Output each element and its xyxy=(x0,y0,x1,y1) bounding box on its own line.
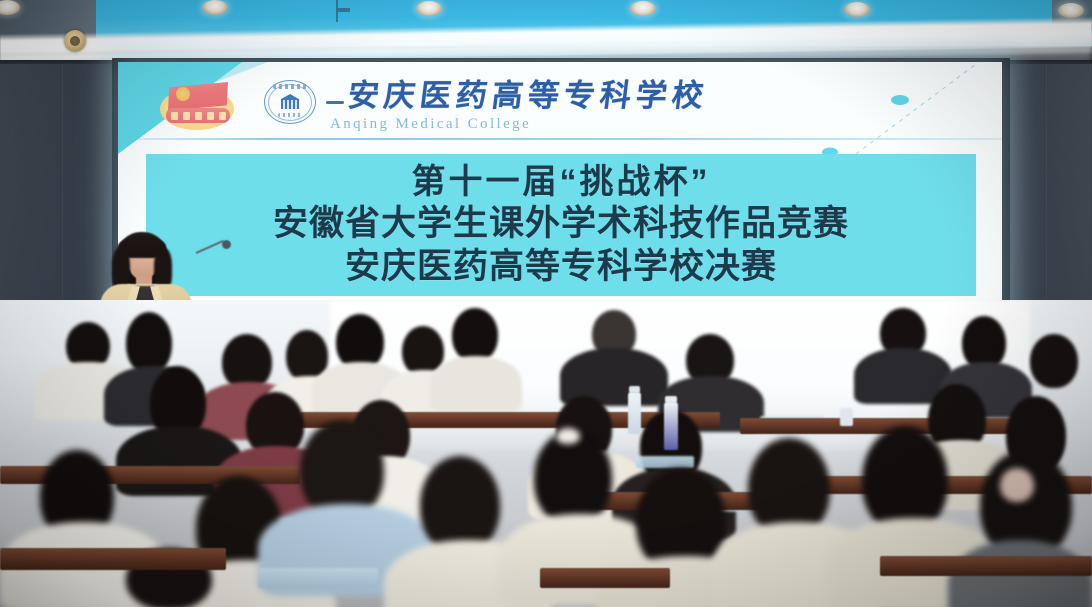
slide-header: 安庆医药高等专科学校 Anqing Medical College xyxy=(118,68,1002,134)
slide-title-line-1: 第十一届“挑战杯” xyxy=(412,162,711,202)
ceiling-hanger-rod xyxy=(338,8,350,12)
water-bottle-cap xyxy=(629,386,640,393)
slide-divider-rule xyxy=(118,138,1002,140)
hair-accessory xyxy=(556,428,580,444)
slide-title-stack: 第十一届“挑战杯” 安徽省大学生课外学术科技作品竞赛 安庆医药高等专科学校决赛 xyxy=(146,154,976,296)
recessed-spotlight xyxy=(844,2,870,17)
seated-audience xyxy=(0,300,1092,607)
slide-title-line-2: 安徽省大学生课外学术科技作品竞赛 xyxy=(273,203,849,245)
college-crest-emblem-center xyxy=(70,36,80,46)
water-bottle xyxy=(664,402,678,450)
audience-shoulders xyxy=(430,356,522,412)
water-bottle xyxy=(840,408,853,426)
recessed-spotlight xyxy=(202,0,228,15)
slide-title-line-3: 安庆医药高等专科学校决赛 xyxy=(345,246,777,288)
institution-name-cn: 安庆医药高等专科学校 xyxy=(346,76,711,116)
conference-hall-screenshot: 安庆医药高等专科学校 Anqing Medical College 第十一届“挑… xyxy=(0,0,1092,607)
plush-accessory xyxy=(1000,468,1034,502)
recessed-spotlight xyxy=(630,1,656,16)
recessed-spotlight xyxy=(1058,3,1084,18)
lecture-desk-row xyxy=(0,548,226,570)
audience-head xyxy=(534,430,612,526)
water-bottle xyxy=(628,392,641,434)
communist-youth-league-flag-badge-icon xyxy=(154,80,240,132)
seal-arc-text-top xyxy=(273,84,307,89)
slide-title-box: 第十一届“挑战杯” 安徽省大学生课外学术科技作品竞赛 安庆医药高等专科学校决赛 xyxy=(146,154,976,296)
anqing-medical-college-seal-icon xyxy=(264,80,316,124)
desk-surface-panel xyxy=(636,456,694,468)
seal-arc-text-bottom xyxy=(278,113,302,117)
audience-head xyxy=(126,312,172,374)
institution-name-en: Anqing Medical College xyxy=(330,115,531,133)
recessed-spotlight xyxy=(416,1,442,16)
seal-pavilion-columns xyxy=(283,100,297,109)
logo-dash-icon xyxy=(326,101,344,104)
desk-surface-panel xyxy=(258,568,378,588)
lecture-desk-row xyxy=(880,556,1092,576)
water-bottle-cap xyxy=(665,396,677,403)
badge-ribbon-text xyxy=(168,109,228,122)
flag-star-icon xyxy=(176,87,190,101)
gooseneck-microphone-head xyxy=(222,240,231,249)
audience-head xyxy=(452,308,498,362)
audience-head xyxy=(1030,334,1078,388)
lecture-desk-row xyxy=(540,568,670,588)
